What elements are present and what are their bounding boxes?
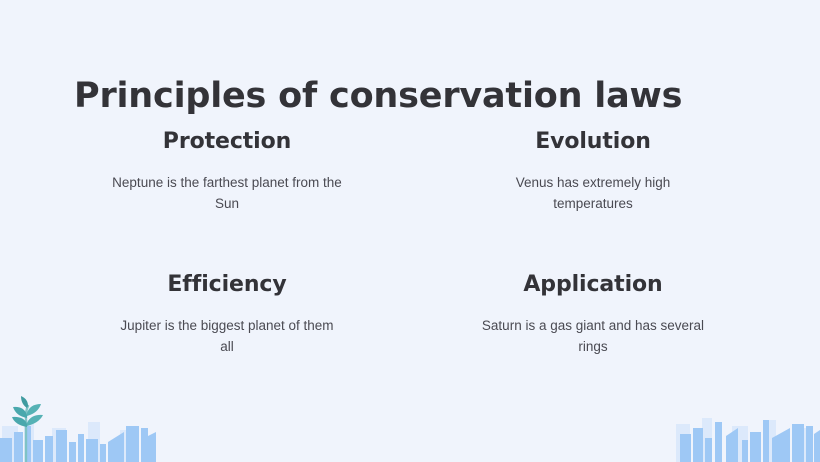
section-body: Saturn is a gas giant and has several ri… [478,315,708,357]
page-title: Principles of conservation laws [74,74,682,118]
section-body: Venus has extremely high temperatures [478,172,708,214]
city-skyline-with-plant-icon [0,382,160,462]
section-body: Jupiter is the biggest planet of them al… [112,315,342,357]
presentation-slide: Principles of conservation laws Protecti… [0,0,820,462]
section-heading: Application [426,271,760,299]
section-heading: Evolution [426,128,760,156]
section-card-application: Application Saturn is a gas giant and ha… [426,271,760,357]
section-heading: Protection [60,128,394,156]
city-skyline-icon [670,406,820,462]
section-card-efficiency: Efficiency Jupiter is the biggest planet… [60,271,394,357]
section-card-protection: Protection Neptune is the farthest plane… [60,128,394,214]
section-body: Neptune is the farthest planet from the … [112,172,342,214]
section-heading: Efficiency [60,271,394,299]
sections-grid: Protection Neptune is the farthest plane… [60,128,760,357]
section-card-evolution: Evolution Venus has extremely high tempe… [426,128,760,214]
